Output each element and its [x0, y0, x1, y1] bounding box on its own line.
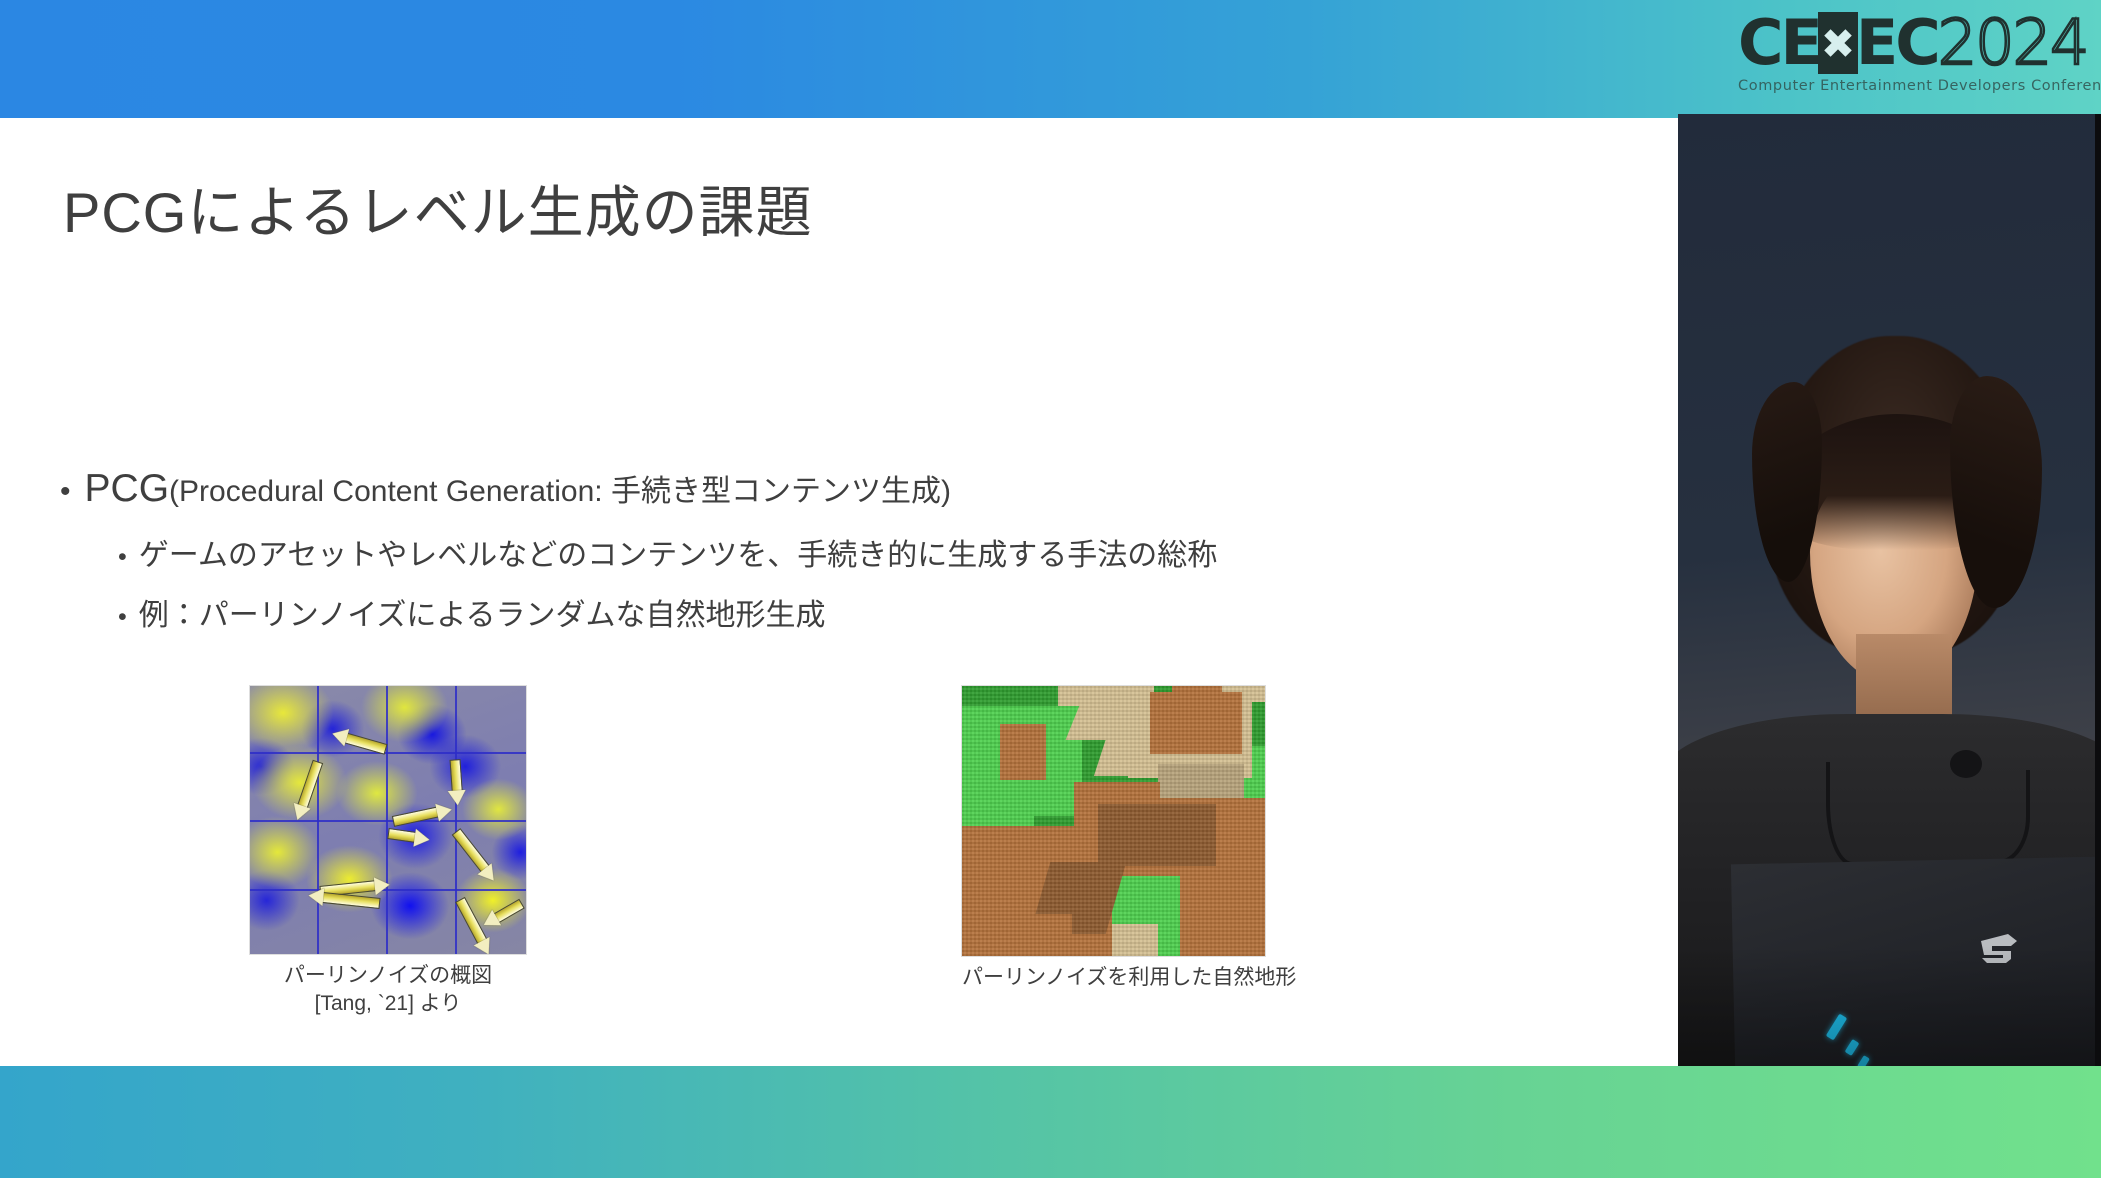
gradient-vector-arrow — [492, 899, 525, 925]
video-bottom-shadow — [1678, 946, 2101, 1066]
figure-caption-line1: パーリンノイズの概図 — [250, 962, 526, 990]
gradient-vector-arrow — [450, 759, 463, 794]
figure-perlin-noise: パーリンノイズの概図 [Tang, `21] より — [250, 686, 526, 1017]
figure-caption-terrain: パーリンノイズを利用した自然地形 — [962, 964, 1265, 992]
lapel-microphone-icon — [1950, 750, 1982, 778]
microphone-cable-right — [1966, 770, 2030, 864]
video-right-edge — [2095, 114, 2101, 1066]
gradient-vector-arrow — [320, 892, 381, 909]
header-gradient-bar: CEEC2024 Computer Entertainment Develope… — [0, 0, 2101, 118]
bullet-marker: • — [118, 545, 127, 570]
perlin-noise-diagram-image — [250, 686, 526, 954]
bullet-rest-text: (Procedural Content Generation: 手続き型コンテン… — [169, 466, 951, 510]
slide-content-area: PCGによるレベル生成の課題 • PCG (Procedural Content… — [0, 118, 1678, 1066]
cedec-logo-word-left: CE — [1738, 12, 1820, 74]
presentation-screen-capture: CEEC2024 Computer Entertainment Develope… — [0, 0, 2101, 1178]
presenter-camera-feed — [1678, 114, 2101, 1066]
figure-caption-line1: パーリンノイズを利用した自然地形 — [962, 964, 1265, 992]
gradient-vector-arrow — [452, 828, 491, 874]
gradient-vector-arrow — [392, 806, 441, 827]
bullet-marker: • — [60, 477, 71, 507]
page-title: PCGによるレベル生成の課題 — [63, 168, 813, 249]
perlin-terrain-image — [962, 686, 1265, 956]
figure-perlin-terrain: パーリンノイズを利用した自然地形 — [962, 686, 1265, 992]
figure-caption-line2: [Tang, `21] より — [250, 990, 526, 1018]
footer-gradient-bar — [0, 1066, 2101, 1178]
bullet-item-pcg: • PCG (Procedural Content Generation: 手続… — [60, 466, 951, 511]
cedec-logo-main: CEEC2024 — [1738, 12, 2083, 74]
gradient-vector-arrow — [387, 828, 418, 843]
x-cross-icon — [1818, 12, 1858, 74]
figure-caption-perlin: パーリンノイズの概図 [Tang, `21] より — [250, 962, 526, 1017]
cedec-logo-word-right: EC — [1856, 12, 1938, 74]
bullet-item-example: • 例：パーリンノイズによるランダムな自然地形生成 — [118, 590, 825, 634]
bullet-text: ゲームのアセットやレベルなどのコンテンツを、手続き的に生成する手法の総称 — [139, 530, 1218, 574]
bullet-item-definition: • ゲームのアセットやレベルなどのコンテンツを、手続き的に生成する手法の総称 — [118, 530, 1217, 574]
cedec-logo: CEEC2024 Computer Entertainment Develope… — [1738, 12, 2083, 104]
bullet-lead-text: PCG — [85, 467, 170, 511]
cedec-logo-subtitle: Computer Entertainment Developers Confer… — [1738, 78, 2083, 94]
bullet-text: 例：パーリンノイズによるランダムな自然地形生成 — [139, 590, 826, 634]
cedec-logo-year: 2024 — [1938, 12, 2088, 74]
gradient-vector-arrow — [297, 760, 324, 811]
bullet-marker: • — [118, 605, 127, 630]
